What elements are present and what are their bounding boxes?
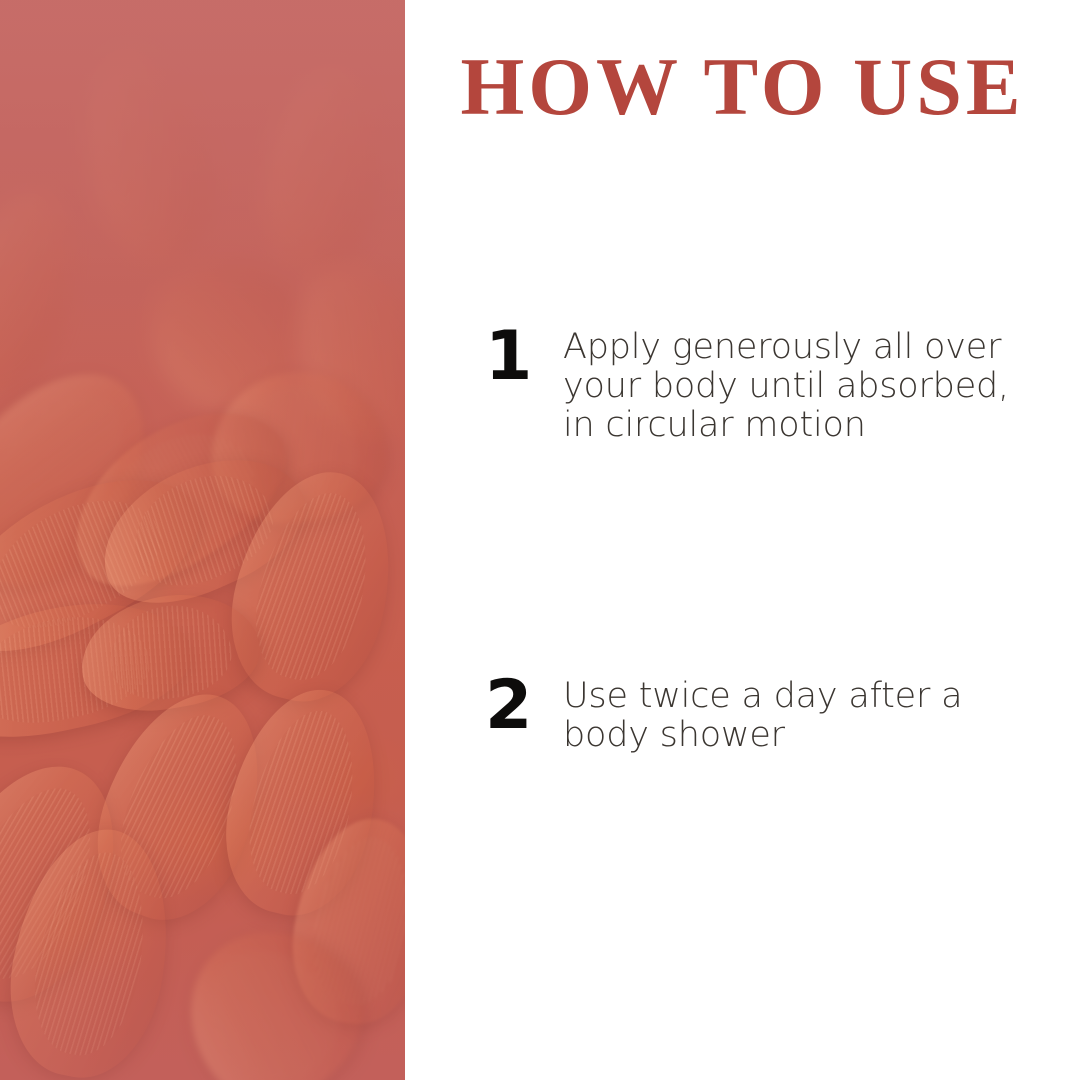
step-text-1: Apply generously all over your body unti…: [563, 318, 1033, 445]
step-1-line-2: your body until absorbed,: [563, 367, 1033, 406]
steps-list: 1 Apply generously all over your body un…: [485, 318, 1035, 755]
almond-photo: [0, 0, 405, 1080]
almond-image-panel: [0, 0, 405, 1080]
step-number-2: 2: [485, 667, 563, 745]
step-1-line-1: Apply generously all over: [563, 328, 1033, 367]
step-item-1: 1 Apply generously all over your body un…: [485, 318, 1035, 445]
step-number-1: 1: [485, 318, 563, 396]
page-title: HOW TO USE: [405, 46, 1080, 128]
photo-top-haze: [0, 0, 405, 1080]
step-1-line-3: in circular motion: [563, 406, 1033, 445]
step-text-2: Use twice a day after a body shower: [563, 667, 1033, 755]
step-2-line-1: Use twice a day after a: [563, 677, 1033, 716]
content-panel: HOW TO USE 1 Apply generously all over y…: [405, 0, 1080, 1080]
how-to-use-poster: HOW TO USE 1 Apply generously all over y…: [0, 0, 1080, 1080]
step-item-2: 2 Use twice a day after a body shower: [485, 667, 1035, 755]
step-2-line-2: body shower: [563, 716, 1033, 755]
